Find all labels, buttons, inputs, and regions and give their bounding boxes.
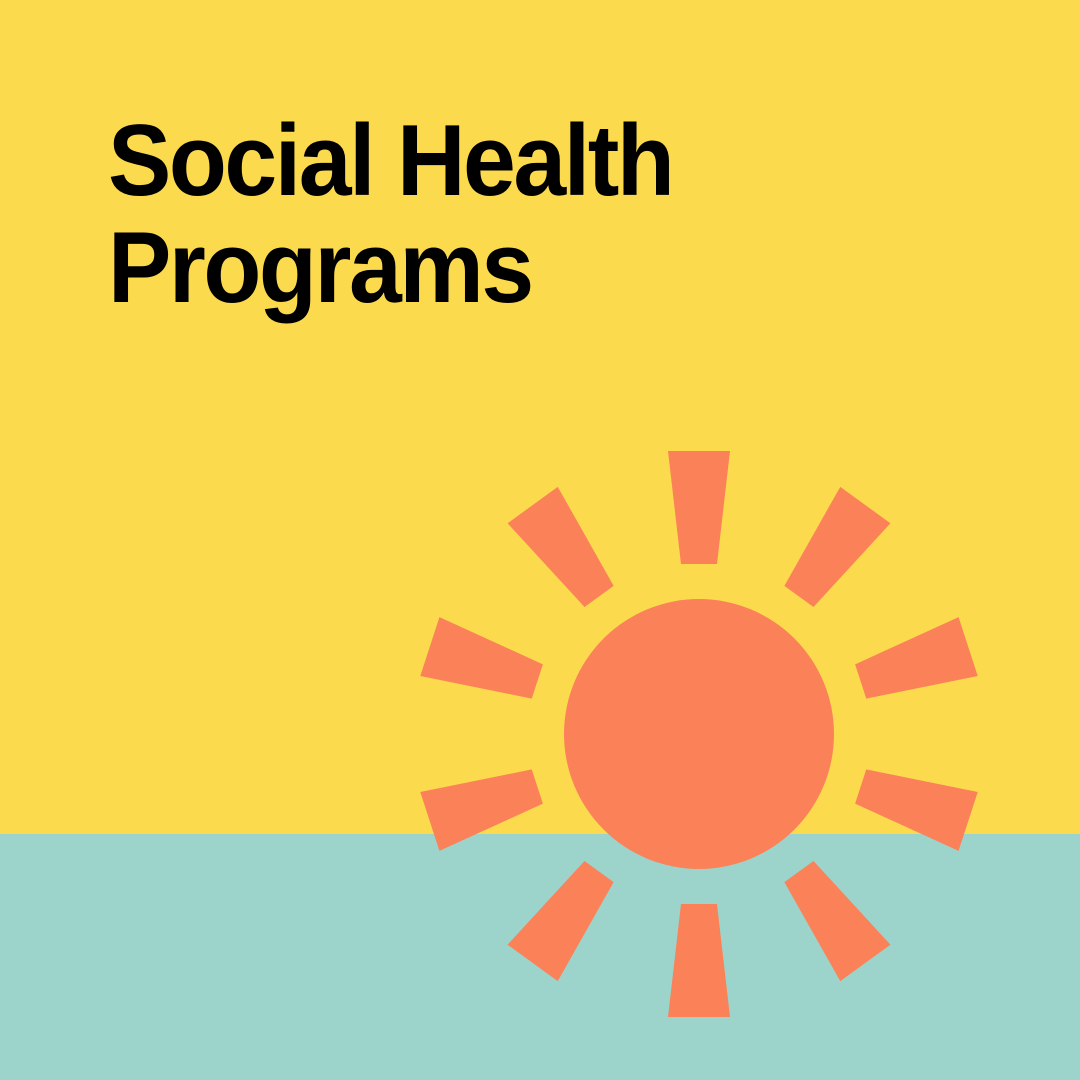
poster-canvas: Social Health Programs [0, 0, 1080, 1080]
teal-sea-band [0, 834, 1080, 1080]
page-title-text: Social Health Programs [108, 108, 822, 322]
page-title: Social Health Programs [108, 108, 868, 322]
